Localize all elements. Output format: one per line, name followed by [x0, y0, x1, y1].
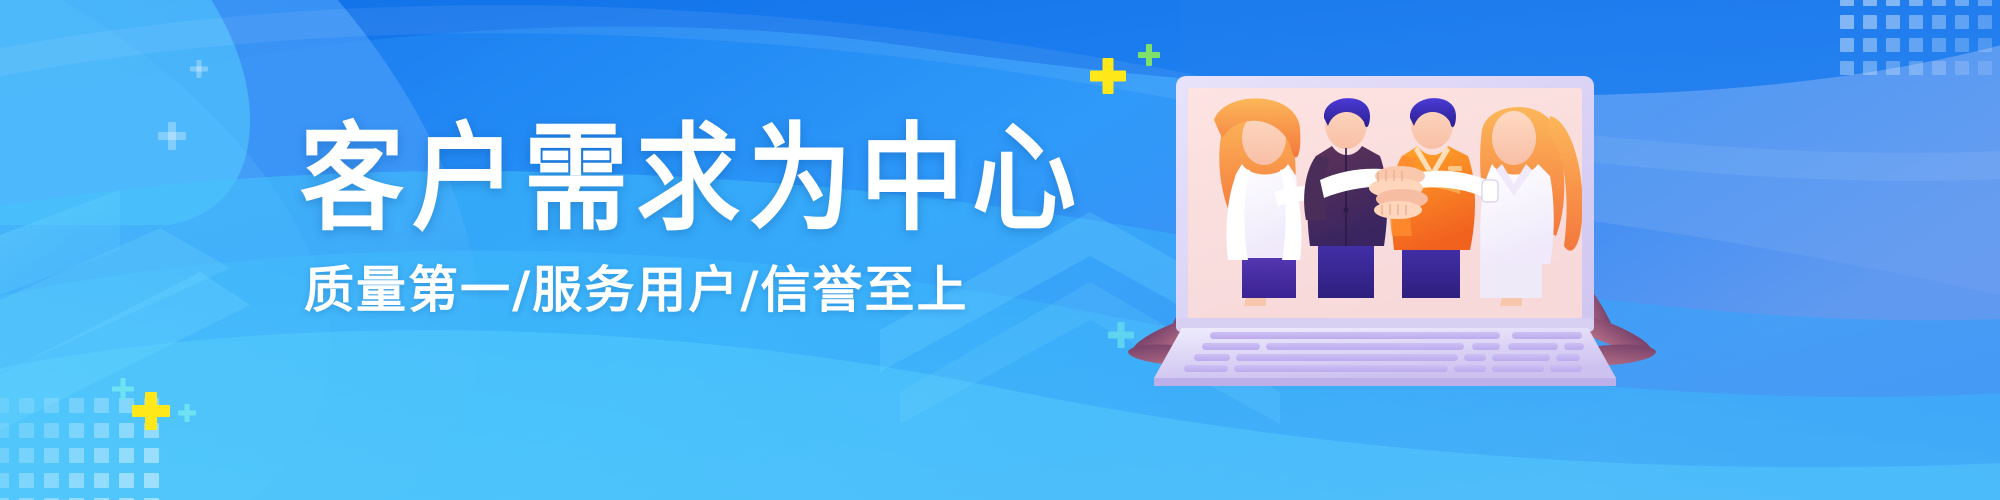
laptop-base: [1154, 328, 1616, 386]
plus-mark-cyan-mid-icon: [1108, 322, 1134, 348]
grid-dot: [1886, 0, 1900, 6]
grid-dot: [44, 423, 59, 438]
grid-dot: [19, 448, 34, 463]
grid-dot: [44, 398, 59, 413]
dot-grid-top-right: [1840, 0, 2000, 84]
grid-dot: [94, 423, 109, 438]
grid-dot: [44, 448, 59, 463]
grid-dot: [69, 423, 84, 438]
grid-dot: [19, 423, 34, 438]
grid-dot: [0, 473, 9, 488]
grid-dot: [1978, 38, 1992, 52]
plus-mark-cyan-b-icon: [178, 404, 196, 422]
grid-dot: [1840, 0, 1854, 6]
grid-dot: [1932, 15, 1946, 29]
grid-dot: [1978, 15, 1992, 29]
grid-dot: [94, 473, 109, 488]
grid-dot: [69, 398, 84, 413]
grid-dot: [119, 473, 134, 488]
grid-dot: [1840, 15, 1854, 29]
grid-dot: [1863, 38, 1877, 52]
grid-dot: [1909, 15, 1923, 29]
plus-mark-faint-b-icon: [158, 122, 186, 150]
grid-dot: [0, 398, 9, 413]
laptop-artwork: [1150, 60, 1620, 380]
grid-dot: [19, 473, 34, 488]
plus-mark-yellow-icon: [1090, 58, 1126, 94]
grid-dot: [1863, 15, 1877, 29]
grid-dot: [1909, 0, 1923, 6]
grid-dot: [0, 448, 9, 463]
grid-dot: [94, 448, 109, 463]
grid-dot: [119, 448, 134, 463]
plus-mark-faint-a-icon: [190, 60, 208, 78]
grid-dot: [0, 423, 9, 438]
grid-dot: [1863, 61, 1877, 75]
grid-dot: [144, 473, 159, 488]
grid-dot: [1978, 0, 1992, 6]
grid-dot: [1840, 61, 1854, 75]
grid-dot: [1886, 15, 1900, 29]
grid-dot: [144, 448, 159, 463]
grid-dot: [1863, 0, 1877, 6]
grid-dot: [1909, 61, 1923, 75]
grid-dot: [1955, 0, 1969, 6]
grid-dot: [1978, 61, 1992, 75]
grid-dot: [1909, 38, 1923, 52]
grid-dot: [19, 398, 34, 413]
grid-dot: [1955, 61, 1969, 75]
grid-dot: [1932, 0, 1946, 6]
promo-banner: 客户需求为中心 质量第一/服务用户/信誉至上: [0, 0, 2000, 500]
banner-copy: 客户需求为中心 质量第一/服务用户/信誉至上: [300, 118, 1060, 318]
laptop-illustration: [1150, 60, 1620, 380]
stacked-hands: [1369, 166, 1428, 219]
plus-mark-yellow-bottom-icon: [132, 392, 170, 430]
grid-dot: [1886, 61, 1900, 75]
grid-dot: [1932, 61, 1946, 75]
grid-dot: [44, 473, 59, 488]
grid-dot: [1886, 38, 1900, 52]
banner-subtitle: 质量第一/服务用户/信誉至上: [304, 263, 1060, 318]
banner-headline: 客户需求为中心: [300, 118, 1060, 240]
grid-dot: [69, 448, 84, 463]
grid-dot: [1932, 38, 1946, 52]
grid-dot: [1955, 38, 1969, 52]
grid-dot: [1955, 15, 1969, 29]
grid-dot: [94, 398, 109, 413]
plus-mark-cyan-a-icon: [112, 378, 134, 400]
grid-dot: [1840, 38, 1854, 52]
grid-dot: [69, 473, 84, 488]
